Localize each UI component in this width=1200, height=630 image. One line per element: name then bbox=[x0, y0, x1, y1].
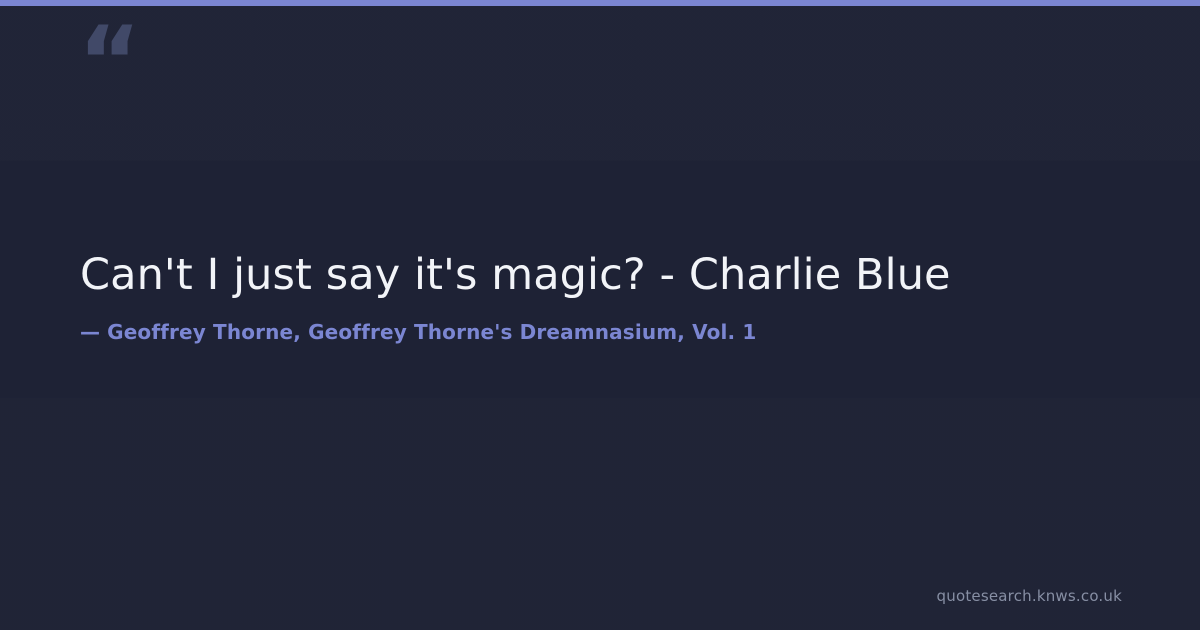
attribution-dash: — bbox=[80, 320, 100, 344]
quote-text: Can't I just say it's magic? - Charlie B… bbox=[80, 248, 1120, 303]
site-watermark: quotesearch.knws.co.uk bbox=[937, 587, 1122, 605]
open-quote-icon: “ bbox=[78, 14, 141, 110]
attribution-text: Geoffrey Thorne, Geoffrey Thorne's Dream… bbox=[107, 320, 756, 344]
quote-body: Can't I just say it's magic? - Charlie B… bbox=[80, 248, 1120, 345]
quote-attribution: —Geoffrey Thorne, Geoffrey Thorne's Drea… bbox=[80, 319, 1120, 345]
quote-card: “ Can't I just say it's magic? - Charlie… bbox=[0, 0, 1200, 630]
top-accent-bar bbox=[0, 0, 1200, 6]
